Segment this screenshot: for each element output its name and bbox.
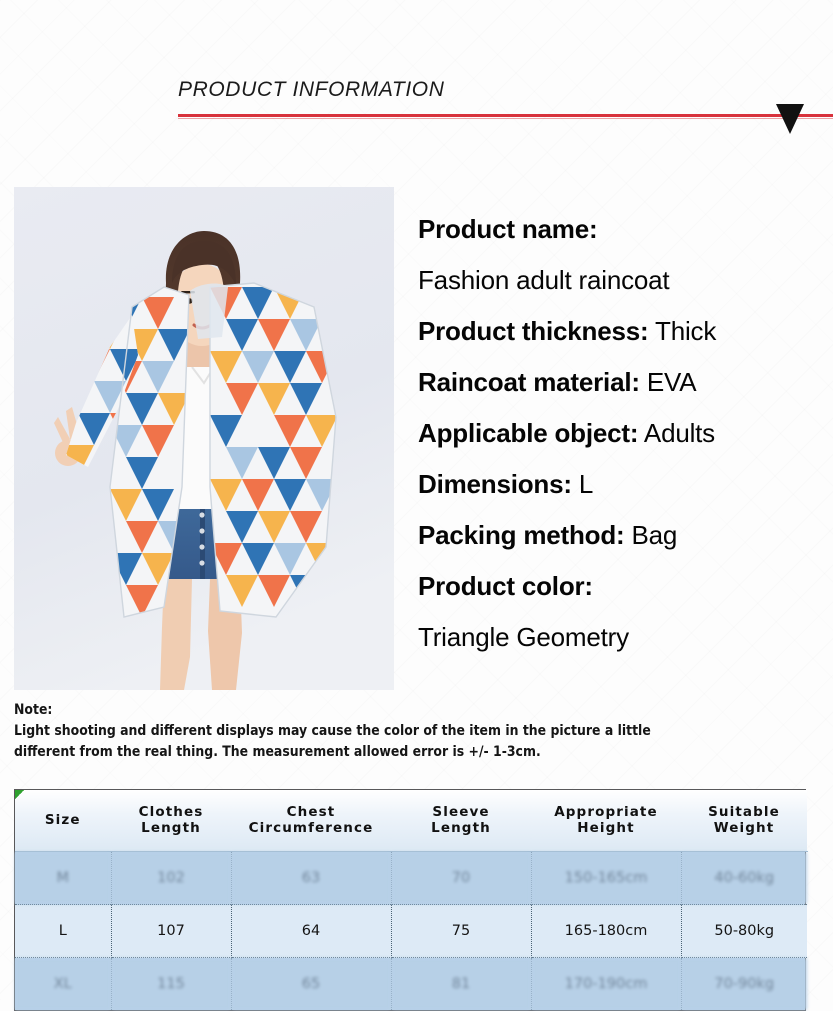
cell-size: L [15, 905, 111, 958]
cell-sleeve-length: 70 [391, 852, 531, 905]
table-row[interactable]: XL 115 65 81 170-190cm 70-90kg [15, 958, 807, 1011]
page-header: PRODUCT INFORMATION [0, 78, 833, 140]
cell-appropriate-height: 170-190cm [531, 958, 681, 1011]
column-header-sleeve-length: Sleeve Length [391, 790, 531, 852]
spec-product-name-value-text: Fashion adult raincoat [418, 265, 669, 295]
product-photo [14, 187, 394, 690]
column-header-suitable-weight: Suitable Weight [681, 790, 807, 852]
spec-raincoat-material: Raincoat material: EVA [418, 357, 828, 408]
chevron-down-icon [773, 101, 807, 135]
spec-packing-method-label: Packing method: [418, 520, 624, 550]
header-accent-rule [178, 114, 833, 117]
cell-size: XL [15, 958, 111, 1011]
spec-dimensions-label: Dimensions: [418, 469, 572, 499]
cell-clothes-length: 115 [111, 958, 231, 1011]
cell-sleeve-length: 75 [391, 905, 531, 958]
spec-applicable-object-value: Adults [644, 418, 715, 448]
product-photo-illustration [14, 187, 394, 690]
spec-dimensions: Dimensions: L [418, 459, 828, 510]
cell-suitable-weight: 50-80kg [681, 905, 807, 958]
cell-sleeve-length: 81 [391, 958, 531, 1011]
table-row[interactable]: L 107 64 75 165-180cm 50-80kg [15, 905, 807, 958]
spec-dimensions-value: L [579, 469, 593, 499]
cell-clothes-length: 102 [111, 852, 231, 905]
product-information-page: PRODUCT INFORMATION [0, 0, 833, 1000]
spec-packing-method: Packing method: Bag [418, 510, 828, 561]
product-specs-list: Product name: Fashion adult raincoat Pro… [418, 204, 828, 663]
note-body: Light shooting and different displays ma… [14, 721, 702, 763]
spec-raincoat-material-value: EVA [647, 367, 697, 397]
header-accent-rule-thin [178, 118, 833, 119]
cell-suitable-weight: 70-90kg [681, 958, 807, 1011]
spec-product-name-value: Fashion adult raincoat [418, 255, 828, 306]
spec-product-name: Product name: [418, 204, 828, 255]
spec-product-thickness-value: Thick [655, 316, 716, 346]
column-header-clothes-length: Clothes Length [111, 790, 231, 852]
cell-clothes-length: 107 [111, 905, 231, 958]
cell-appropriate-height: 150-165cm [531, 852, 681, 905]
spec-product-color-label: Product color: [418, 571, 593, 601]
table-row[interactable]: M 102 63 70 150-165cm 40-60kg [15, 852, 807, 905]
spec-product-color-value-text: Triangle Geometry [418, 622, 629, 652]
cell-chest-circumference: 63 [231, 852, 391, 905]
spec-raincoat-material-label: Raincoat material: [418, 367, 640, 397]
column-header-appropriate-height: Appropriate Height [531, 790, 681, 852]
spec-product-color-value: Triangle Geometry [418, 612, 828, 663]
spec-product-color: Product color: [418, 561, 828, 612]
spec-product-name-label: Product name: [418, 214, 597, 244]
cell-chest-circumference: 64 [231, 905, 391, 958]
cell-suitable-weight: 40-60kg [681, 852, 807, 905]
cell-size: M [15, 852, 111, 905]
spec-product-thickness-label: Product thickness: [418, 316, 648, 346]
size-chart-header-row: Size Clothes Length Chest Circumference … [15, 790, 807, 852]
cell-chest-circumference: 65 [231, 958, 391, 1011]
page-title: PRODUCT INFORMATION [178, 78, 445, 102]
column-header-chest-circumference: Chest Circumference [231, 790, 391, 852]
size-chart-table: Size Clothes Length Chest Circumference … [14, 789, 806, 1011]
note-title: Note: [14, 700, 702, 721]
spec-applicable-object: Applicable object: Adults [418, 408, 828, 459]
column-header-size: Size [15, 790, 111, 852]
cell-appropriate-height: 165-180cm [531, 905, 681, 958]
table-corner-marker-icon [15, 790, 24, 799]
spec-product-thickness: Product thickness: Thick [418, 306, 828, 357]
note-block: Note: Light shooting and different displ… [14, 700, 702, 763]
spec-applicable-object-label: Applicable object: [418, 418, 638, 448]
spec-packing-method-value: Bag [632, 520, 678, 550]
